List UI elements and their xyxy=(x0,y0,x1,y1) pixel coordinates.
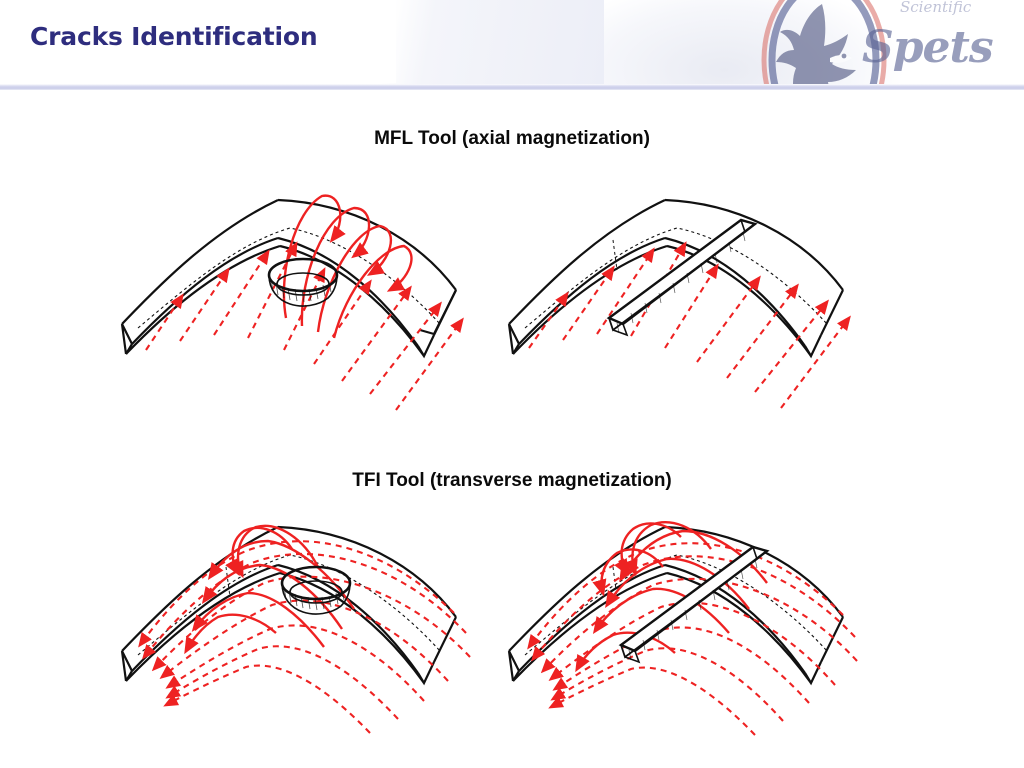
figure-mfl-slot xyxy=(505,178,915,453)
figure-tfi-slot xyxy=(505,505,915,750)
logo-tagline: Scientific xyxy=(900,0,971,16)
flux-lines-dashed xyxy=(140,541,470,733)
figure-row-tfi xyxy=(0,505,1024,750)
slide-header: Scientific Spets Cracks Identification xyxy=(0,0,1024,88)
figure-mfl-hole xyxy=(118,178,518,453)
section-heading-mfl: MFL Tool (axial magnetization) xyxy=(0,128,1024,150)
figure-tfi-hole xyxy=(118,505,518,750)
figure-row-mfl xyxy=(0,178,1024,453)
logo-wordmark: Spets xyxy=(862,22,993,73)
section-heading-tfi: TFI Tool (transverse magnetization) xyxy=(0,470,1024,492)
flux-lines-dashed xyxy=(529,543,857,735)
header-divider xyxy=(0,84,1024,90)
company-logo: Scientific Spets xyxy=(604,0,1024,84)
page-title: Cracks Identification xyxy=(30,22,317,51)
